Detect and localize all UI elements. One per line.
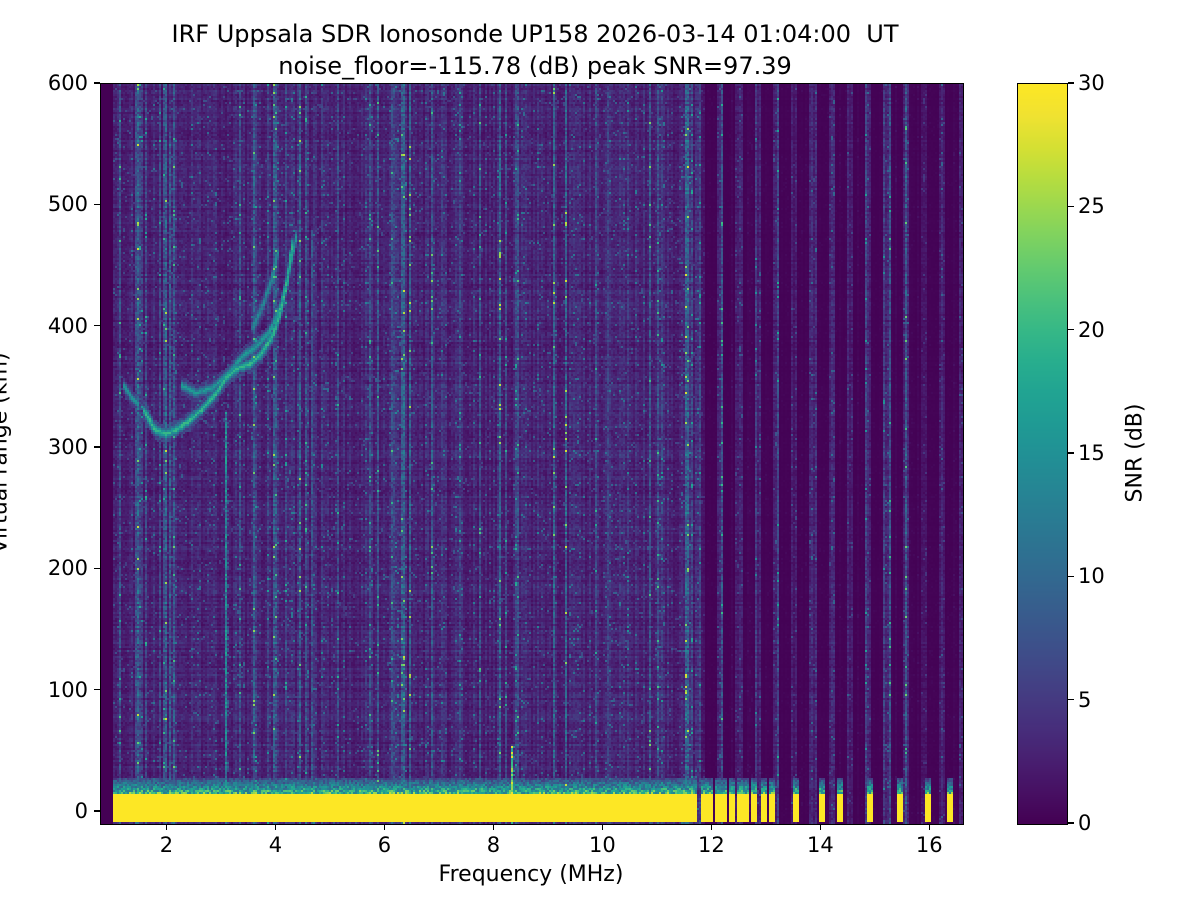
colorbar-tick-label: 10 xyxy=(1078,564,1105,588)
colorbar-tick-mark xyxy=(1068,576,1074,577)
y-tick-mark xyxy=(94,568,100,569)
colorbar-tick-label: 30 xyxy=(1078,71,1105,95)
colorbar-tick-mark xyxy=(1068,82,1074,83)
y-tick-mark xyxy=(94,810,100,811)
colorbar-tick-label: 20 xyxy=(1078,318,1105,342)
x-tick-label: 10 xyxy=(589,833,616,857)
x-tick-label: 8 xyxy=(487,833,500,857)
x-axis-label: Frequency (MHz) xyxy=(100,862,962,887)
colorbar-tick-mark xyxy=(1068,452,1074,453)
x-tick-mark xyxy=(711,824,712,830)
colorbar[interactable] xyxy=(1017,83,1068,825)
colorbar-tick-mark xyxy=(1068,206,1074,207)
x-tick-label: 12 xyxy=(698,833,725,857)
y-axis-label: Virtual range (km) xyxy=(0,352,13,553)
x-tick-mark xyxy=(820,824,821,830)
y-tick-label: 300 xyxy=(48,435,88,459)
ionogram-heatmap xyxy=(101,84,963,824)
ionogram-plot-area[interactable] xyxy=(100,83,964,825)
x-tick-mark xyxy=(493,824,494,830)
colorbar-tick-label: 15 xyxy=(1078,441,1105,465)
title-line-2: noise_floor=-115.78 (dB) peak SNR=97.39 xyxy=(0,50,1070,82)
y-tick-mark xyxy=(94,325,100,326)
y-tick-label: 0 xyxy=(75,799,88,823)
x-tick-label: 6 xyxy=(378,833,391,857)
y-tick-label: 500 xyxy=(48,192,88,216)
title-line-1: IRF Uppsala SDR Ionosonde UP158 2026-03-… xyxy=(0,18,1070,50)
colorbar-tick-label: 25 xyxy=(1078,194,1105,218)
colorbar-label: SNR (dB) xyxy=(1123,404,1148,503)
figure-title: IRF Uppsala SDR Ionosonde UP158 2026-03-… xyxy=(0,18,1070,82)
y-tick-mark xyxy=(94,204,100,205)
colorbar-tick-mark xyxy=(1068,699,1074,700)
x-tick-mark xyxy=(929,824,930,830)
x-tick-mark xyxy=(602,824,603,830)
colorbar-tick-label: 5 xyxy=(1078,688,1091,712)
x-tick-label: 4 xyxy=(269,833,282,857)
x-tick-mark xyxy=(166,824,167,830)
colorbar-tick-label: 0 xyxy=(1078,811,1091,835)
x-tick-label: 16 xyxy=(916,833,943,857)
ionogram-figure: IRF Uppsala SDR Ionosonde UP158 2026-03-… xyxy=(0,0,1200,900)
y-tick-mark xyxy=(94,82,100,83)
y-tick-label: 400 xyxy=(48,314,88,338)
y-tick-mark xyxy=(94,689,100,690)
y-tick-label: 200 xyxy=(48,556,88,580)
y-tick-mark xyxy=(94,446,100,447)
x-tick-mark xyxy=(384,824,385,830)
colorbar-tick-mark xyxy=(1068,329,1074,330)
y-tick-label: 600 xyxy=(48,71,88,95)
y-tick-label: 100 xyxy=(48,678,88,702)
colorbar-tick-mark xyxy=(1068,822,1074,823)
x-tick-label: 14 xyxy=(807,833,834,857)
colorbar-gradient xyxy=(1018,84,1067,824)
x-tick-label: 2 xyxy=(160,833,173,857)
x-tick-mark xyxy=(275,824,276,830)
